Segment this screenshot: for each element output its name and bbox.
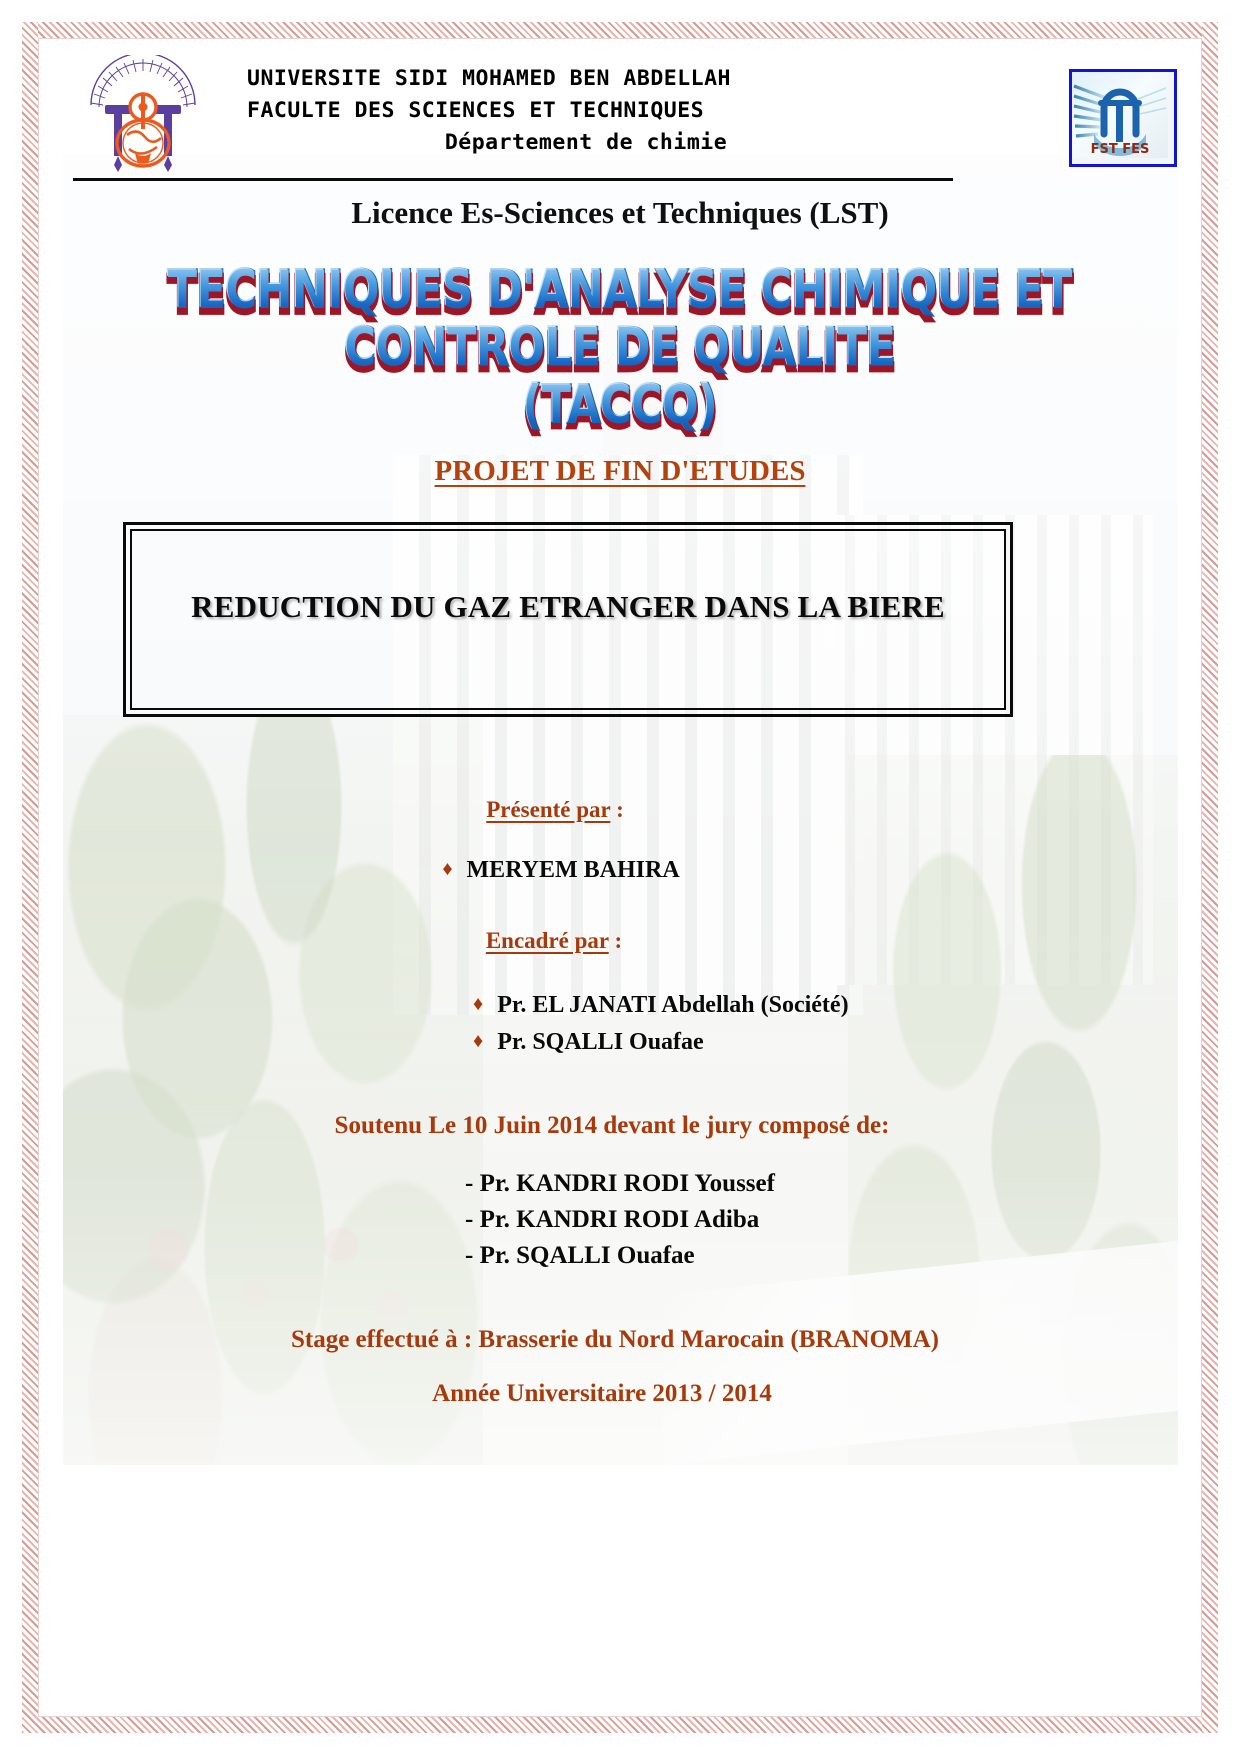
program-wordart-title: TECHNIQUES D'ANALYSE CHIMIQUE ET TECHNIQ… [45, 263, 1195, 435]
fst-fes-logo-caption: FST FES [1091, 142, 1150, 157]
supervised-by-colon: : [609, 928, 622, 953]
jury-list: - Pr. KANDRI RODI Youssef - Pr. KANDRI R… [45, 1166, 1195, 1274]
defense-line: Soutenu Le 10 Juin 2014 devant le jury c… [45, 1112, 1195, 1140]
header-divider [73, 178, 953, 181]
list-item: - Pr. KANDRI RODI Youssef [465, 1166, 1195, 1202]
list-item: ♦Pr. EL JANATI Abdellah (Société) [473, 986, 1195, 1023]
supervisor-name: Pr. EL JANATI Abdellah (Société) [497, 992, 848, 1018]
list-item: - Pr. KANDRI RODI Adiba [465, 1202, 1195, 1238]
project-title-frame-inner: REDUCTION DU GAZ ETRANGER DANS LA BIERE [130, 529, 1006, 710]
wordart-line-2-fill: CONTROLE DE QUALITE [345, 318, 896, 379]
student-row: ♦MERYEM BAHIRA [45, 857, 1195, 884]
wordart-line-3-fill: (TACCQ) [523, 375, 718, 436]
usmba-crest-logo [87, 55, 199, 173]
project-title-frame: REDUCTION DU GAZ ETRANGER DANS LA BIERE [123, 522, 1013, 717]
fst-fes-logo: FST FES [1069, 69, 1177, 167]
page-header: UNIVERSITE SIDI MOHAMED BEN ABDELLAH FAC… [45, 53, 1195, 168]
cover-content: UNIVERSITE SIDI MOHAMED BEN ABDELLAH FAC… [45, 45, 1195, 1710]
diamond-bullet-icon: ♦ [442, 858, 452, 880]
page-border-right [1202, 22, 1218, 1733]
student-name: MERYEM BAHIRA [467, 857, 680, 883]
wordart-line-3: (TACCQ) (TACCQ) (TACCQ) [45, 378, 1195, 435]
page-border-bottom [22, 1717, 1218, 1733]
presented-by-colon: : [610, 797, 623, 822]
credits-block: Présenté par : ♦MERYEM BAHIRA Encadré pa… [45, 745, 1195, 1408]
department-line: Département de chimie [241, 127, 931, 159]
diploma-label: Licence Es-Sciences et Techniques (LST) [45, 195, 1195, 231]
institution-heading: UNIVERSITE SIDI MOHAMED BEN ABDELLAH FAC… [241, 63, 931, 159]
document-type-label: PROJET DE FIN D'ETUDES [45, 455, 1195, 488]
university-line-2: FACULTE DES SCIENCES ET TECHNIQUES [241, 95, 931, 127]
page-border-top [22, 22, 1218, 38]
presented-by-label: Présenté par : [45, 797, 1195, 823]
presented-by-label-text: Présenté par [486, 797, 610, 822]
document-type-text: PROJET DE FIN D'ETUDES [435, 455, 806, 487]
university-line-1: UNIVERSITE SIDI MOHAMED BEN ABDELLAH [241, 63, 931, 95]
cover-page-sheet: UNIVERSITE SIDI MOHAMED BEN ABDELLAH FAC… [45, 45, 1195, 1710]
supervised-by-label-text: Encadré par [486, 928, 609, 953]
wordart-line-2: CONTROLE DE QUALITE CONTROLE DE QUALITE … [45, 320, 1195, 377]
supervisor-list: ♦Pr. EL JANATI Abdellah (Société) ♦Pr. S… [45, 986, 1195, 1060]
list-item: - Pr. SQALLI Ouafae [465, 1238, 1195, 1274]
wordart-line-1: TECHNIQUES D'ANALYSE CHIMIQUE ET TECHNIQ… [45, 263, 1195, 320]
internship-line: Stage effectué à : Brasserie du Nord Mar… [45, 1326, 1195, 1354]
supervisor-name: Pr. SQALLI Ouafae [497, 1029, 703, 1055]
academic-year-line: Année Universitaire 2013 / 2014 [45, 1380, 1195, 1408]
page-title: REDUCTION DU GAZ ETRANGER DANS LA BIERE [191, 589, 945, 625]
diamond-bullet-icon: ♦ [473, 993, 483, 1015]
list-item: ♦Pr. SQALLI Ouafae [473, 1023, 1195, 1060]
wordart-line-1-fill: TECHNIQUES D'ANALYSE CHIMIQUE ET [168, 261, 1072, 322]
supervised-by-label: Encadré par : [45, 928, 1195, 954]
diamond-bullet-icon: ♦ [473, 1030, 483, 1052]
page-border-left [22, 22, 38, 1733]
